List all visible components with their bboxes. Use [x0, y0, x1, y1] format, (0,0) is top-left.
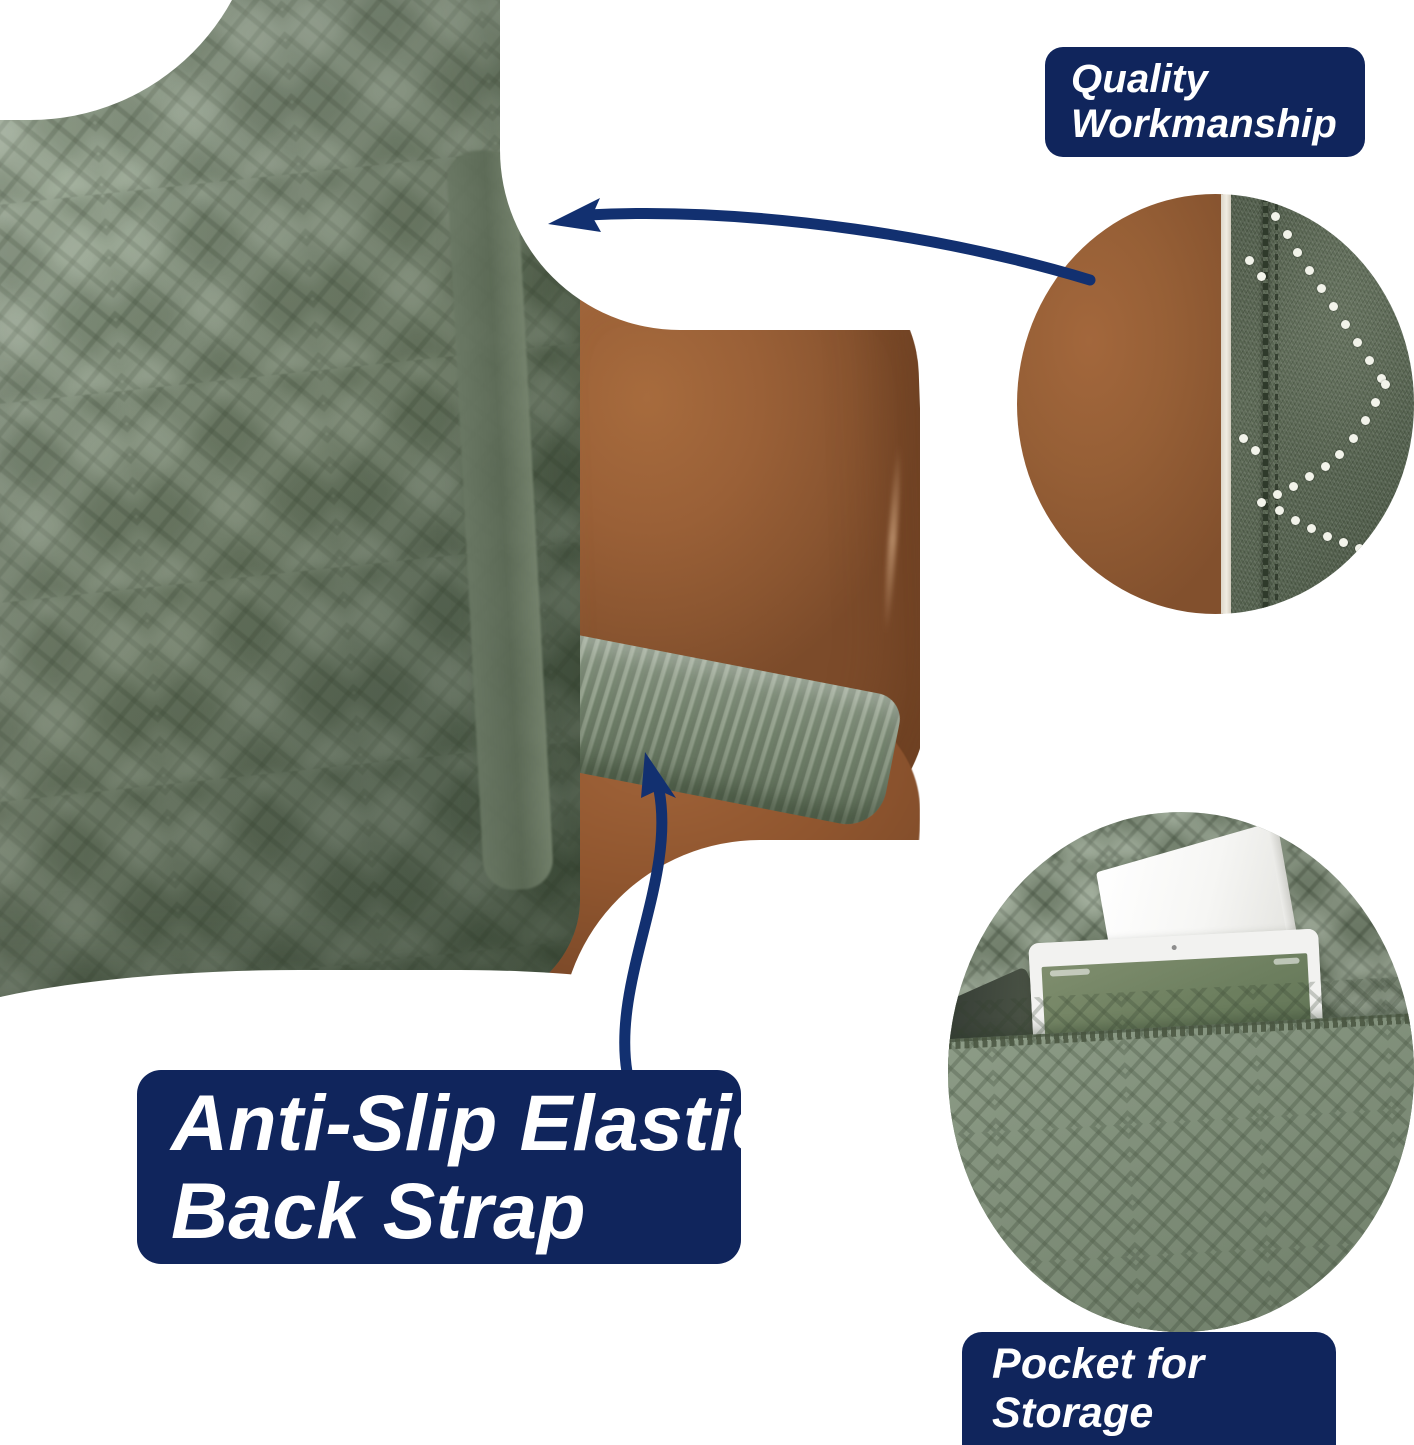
pocket-line-2: Storage [992, 1389, 1306, 1437]
stitch-detail-binding-edge [1221, 194, 1231, 614]
vertical-seam-stitch-secondary [1275, 194, 1278, 614]
vertical-seam-stitch [1263, 194, 1268, 614]
stitch-detail-circle [1017, 194, 1414, 614]
main-product-photo [0, 0, 960, 1045]
stitch-detail-fabric [1231, 194, 1414, 614]
antislip-line-2: Back Strap [171, 1167, 707, 1255]
pocket-front-panel [948, 1012, 1414, 1332]
infographic-canvas: Quality Workmanship Anti-Slip Elastic Ba… [0, 0, 1414, 1445]
callout-label-anti-slip-back-strap[interactable]: Anti-Slip Elastic Back Strap [137, 1070, 741, 1264]
stitch-detail-leather [1017, 194, 1223, 614]
callout-label-quality-workmanship[interactable]: Quality Workmanship [1045, 47, 1365, 157]
pocket-detail-circle [948, 812, 1414, 1332]
quality-line-1: Quality [1071, 57, 1339, 102]
tablet-status-left [1050, 969, 1090, 977]
quality-line-2: Workmanship [1071, 102, 1339, 147]
callout-label-pocket-for-storage[interactable]: Pocket for Storage [962, 1332, 1336, 1445]
tablet-status-right [1273, 958, 1299, 965]
pocket-line-1: Pocket for [992, 1340, 1306, 1388]
antislip-line-1: Anti-Slip Elastic [171, 1079, 707, 1167]
